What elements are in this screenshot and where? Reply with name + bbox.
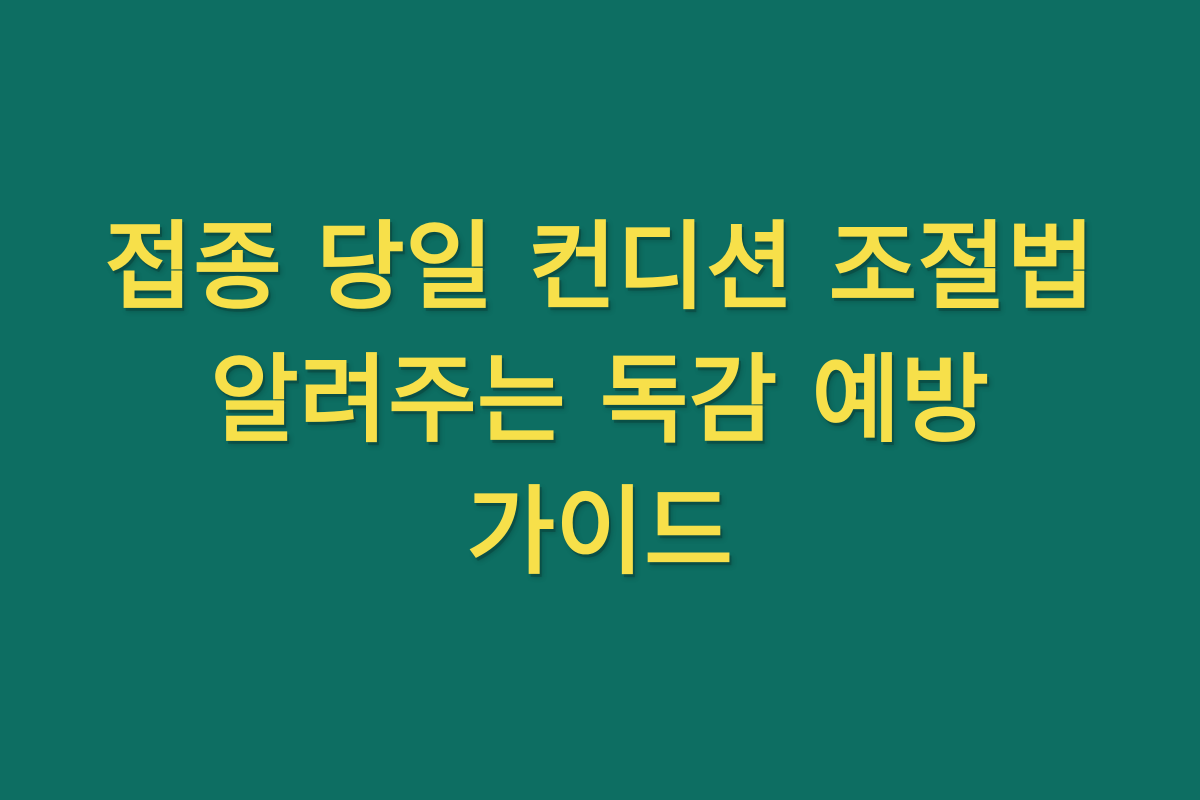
page-title: 접종 당일 컨디션 조절법 알려주는 독감 예방 가이드 xyxy=(91,201,1109,598)
title-block: 접종 당일 컨디션 조절법 알려주는 독감 예방 가이드 xyxy=(85,201,1115,598)
thumbnail-canvas: 접종 당일 컨디션 조절법 알려주는 독감 예방 가이드 xyxy=(0,0,1200,800)
